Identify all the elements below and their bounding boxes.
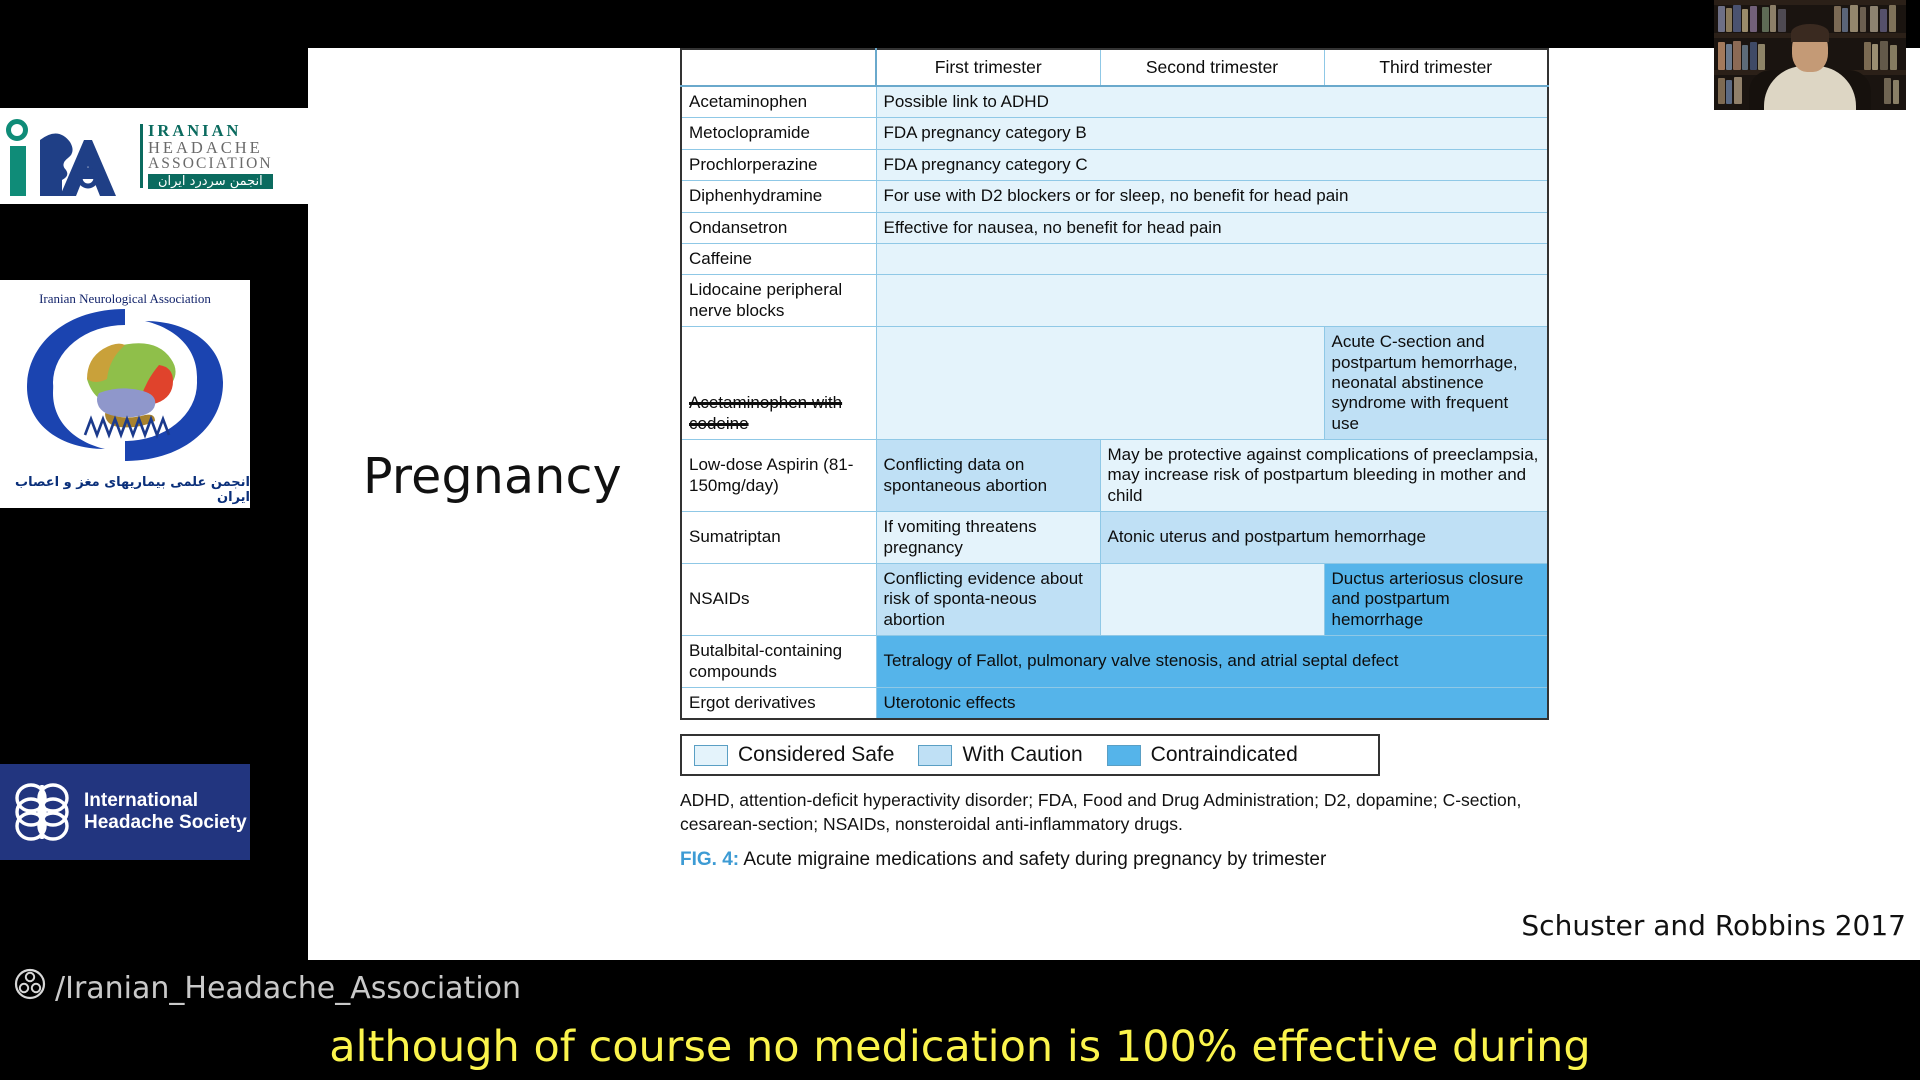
table-row: Butalbital-containing compoundsTetralogy… — [681, 636, 1548, 688]
drug-name-cell: Metoclopramide — [681, 118, 876, 149]
presenter-webcam-feed[interactable] — [1714, 0, 1906, 110]
table-body: AcetaminophenPossible link to ADHDMetocl… — [681, 86, 1548, 719]
international-headache-society-logo: International Headache Society — [0, 764, 250, 860]
iha-word-line2: HEADACHE — [148, 140, 273, 157]
table-row: OndansetronEffective for nausea, no bene… — [681, 212, 1548, 243]
drug-name-cell: Low-dose Aspirin (81-150mg/day) — [681, 440, 876, 512]
figure-number-label: FIG. 4: — [680, 849, 739, 870]
trimester-cell: FDA pregnancy category C — [876, 149, 1548, 180]
drug-name-cell: Diphenhydramine — [681, 181, 876, 212]
drug-name-cell: NSAIDs — [681, 564, 876, 636]
drug-name-cell: Caffeine — [681, 243, 876, 274]
figure-legend: Considered SafeWith CautionContraindicat… — [680, 734, 1380, 776]
table-col-trimester-2: Second trimester — [1100, 49, 1324, 86]
page-title: Pregnancy — [363, 448, 622, 505]
citation-text: Schuster and Robbins 2017 — [1521, 909, 1906, 942]
trimester-cell: For use with D2 blockers or for sleep, n… — [876, 181, 1548, 212]
table-row: AcetaminophenPossible link to ADHD — [681, 86, 1548, 118]
table-row: MetoclopramideFDA pregnancy category B — [681, 118, 1548, 149]
social-handle[interactable]: /Iranian_Headache_Association — [14, 968, 521, 1008]
trimester-cell: Effective for nausea, no benefit for hea… — [876, 212, 1548, 243]
figure-footnote: ADHD, attention-deficit hyperactivity di… — [680, 789, 1560, 836]
table-row: NSAIDsConflicting evidence about risk of… — [681, 564, 1548, 636]
table-col-trimester-1: First trimester — [876, 49, 1100, 86]
table-row: Low-dose Aspirin (81-150mg/day)Conflicti… — [681, 440, 1548, 512]
drug-name-cell: Acetaminophen — [681, 86, 876, 118]
table-header-row: First trimesterSecond trimesterThird tri… — [681, 49, 1548, 86]
subtitle-caption: although of course no medication is 100%… — [0, 1022, 1920, 1072]
trimester-cell: Conflicting data on spontaneous abortion — [876, 440, 1100, 512]
ihs-line1: International — [84, 790, 247, 812]
social-handle-text: /Iranian_Headache_Association — [55, 971, 521, 1006]
medication-safety-table: First trimesterSecond trimesterThird tri… — [680, 48, 1549, 720]
figure-caption-text: Acute migraine medications and safety du… — [743, 849, 1326, 870]
presentation-slide: Pregnancy Schuster and Robbins 2017 Firs… — [308, 48, 1920, 960]
table-row: Lidocaine peripheral nerve blocks — [681, 275, 1548, 327]
ihs-line2: Headache Society — [84, 812, 247, 834]
presenter-hair — [1791, 24, 1829, 42]
trimester-cell — [876, 243, 1548, 274]
legend-swatch-0 — [694, 745, 728, 766]
drug-name-cell: Prochlorperazine — [681, 149, 876, 180]
table-col-drug — [681, 49, 876, 86]
trimester-cell — [876, 327, 1324, 440]
trimester-cell: Conflicting evidence about risk of spont… — [876, 564, 1100, 636]
legend-label-2: Contraindicated — [1151, 743, 1298, 767]
trimester-cell: Ductus arteriosus closure and postpartum… — [1324, 564, 1548, 636]
drug-name-cell: Acetaminophen with codeine — [681, 327, 876, 440]
figure-block: First trimesterSecond trimesterThird tri… — [680, 48, 1560, 871]
svg-text:Iranian Neurological Associati: Iranian Neurological Association — [39, 291, 211, 306]
drug-name-cell: Lidocaine peripheral nerve blocks — [681, 275, 876, 327]
ihs-globe-brain-icon — [14, 781, 70, 843]
trimester-cell: Uterotonic effects — [876, 687, 1548, 719]
legend-swatch-1 — [918, 745, 952, 766]
trimester-cell: Possible link to ADHD — [876, 86, 1548, 118]
figure-caption: FIG. 4: Acute migraine medications and s… — [680, 849, 1560, 871]
table-row: Ergot derivativesUterotonic effects — [681, 687, 1548, 719]
table-row: ProchlorperazineFDA pregnancy category C — [681, 149, 1548, 180]
trimester-cell: Acute C-section and postpartum hemorrhag… — [1324, 327, 1548, 440]
ina-brain-swirl-icon: Iranian Neurological Association — [13, 283, 237, 473]
legend-label-1: With Caution — [962, 743, 1082, 767]
table-row: Caffeine — [681, 243, 1548, 274]
drug-name-cell: Sumatriptan — [681, 512, 876, 564]
table-row: DiphenhydramineFor use with D2 blockers … — [681, 181, 1548, 212]
iha-monogram-icon — [0, 110, 140, 202]
trimester-cell — [1100, 564, 1324, 636]
trimester-cell: May be protective against complications … — [1100, 440, 1548, 512]
trimester-cell: Tetralogy of Fallot, pulmonary valve ste… — [876, 636, 1548, 688]
trimester-cell: If vomiting threatens pregnancy — [876, 512, 1100, 564]
trimester-cell: Atonic uterus and postpartum hemorrhage — [1100, 512, 1548, 564]
table-col-trimester-3: Third trimester — [1324, 49, 1548, 86]
ihs-wordmark: International Headache Society — [84, 790, 247, 834]
legend-swatch-2 — [1107, 745, 1141, 766]
table-row: SumatriptanIf vomiting threatens pregnan… — [681, 512, 1548, 564]
drug-name-cell: Ergot derivatives — [681, 687, 876, 719]
drug-name-cell: Ondansetron — [681, 212, 876, 243]
trimester-cell: FDA pregnancy category B — [876, 118, 1548, 149]
iha-word-line3: ASSOCIATION — [148, 156, 273, 172]
ina-persian-name: انجمن علمی بیماریهای مغز و اعصاب ایران — [0, 475, 250, 505]
drug-name-cell: Butalbital-containing compounds — [681, 636, 876, 688]
iranian-neurological-association-logo: Iranian Neurological Association انجمن ع… — [0, 280, 250, 508]
iha-logo-wordmark: IRANIAN HEADACHE ASSOCIATION انجمن سردرد… — [148, 123, 273, 189]
screen-root: IRANIAN HEADACHE ASSOCIATION انجمن سردرد… — [0, 0, 1920, 1080]
iranian-headache-association-logo: IRANIAN HEADACHE ASSOCIATION انجمن سردرد… — [0, 108, 308, 204]
table-row: Acetaminophen with codeineAcute C-sectio… — [681, 327, 1548, 440]
film-reel-icon — [14, 968, 46, 1008]
legend-label-0: Considered Safe — [738, 743, 894, 767]
iha-persian-name: انجمن سردرد ایران — [148, 174, 273, 189]
trimester-cell — [876, 275, 1548, 327]
iha-logo-divider — [140, 124, 143, 188]
